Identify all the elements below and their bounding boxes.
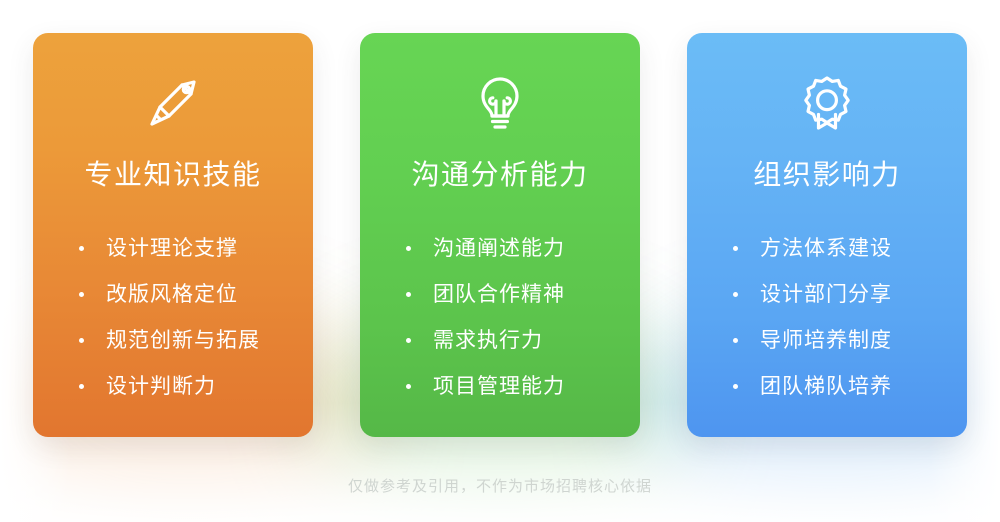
bullet-dot-icon bbox=[733, 292, 738, 297]
card-organizational-influence[interactable]: 组织影响力 方法体系建设 设计部门分享 导师培养制度 团队梯队培养 bbox=[687, 33, 967, 437]
list-item-label: 导师培养制度 bbox=[760, 330, 892, 351]
card-title: 组织影响力 bbox=[753, 161, 901, 189]
card-item-list: 沟通阐述能力 团队合作精神 需求执行力 项目管理能力 bbox=[360, 225, 640, 409]
bullet-dot-icon bbox=[79, 384, 84, 389]
list-item[interactable]: 设计理论支撑 bbox=[79, 225, 313, 271]
bullet-dot-icon bbox=[733, 338, 738, 343]
list-item[interactable]: 设计判断力 bbox=[79, 363, 313, 409]
bullet-dot-icon bbox=[406, 246, 411, 251]
bullet-dot-icon bbox=[79, 292, 84, 297]
bullet-dot-icon bbox=[406, 384, 411, 389]
card-title: 沟通分析能力 bbox=[411, 161, 588, 189]
list-item-label: 设计理论支撑 bbox=[106, 238, 238, 259]
list-item-label: 需求执行力 bbox=[433, 330, 543, 351]
list-item[interactable]: 方法体系建设 bbox=[733, 225, 967, 271]
bullet-dot-icon bbox=[79, 246, 84, 251]
list-item[interactable]: 团队梯队培养 bbox=[733, 363, 967, 409]
list-item[interactable]: 改版风格定位 bbox=[79, 271, 313, 317]
list-item-label: 设计判断力 bbox=[106, 376, 216, 397]
list-item[interactable]: 沟通阐述能力 bbox=[406, 225, 640, 271]
bullet-dot-icon bbox=[406, 292, 411, 297]
bullet-dot-icon bbox=[406, 338, 411, 343]
list-item[interactable]: 需求执行力 bbox=[406, 317, 640, 363]
list-item-label: 改版风格定位 bbox=[106, 284, 238, 305]
list-item[interactable]: 规范创新与拓展 bbox=[79, 317, 313, 363]
list-item-label: 规范创新与拓展 bbox=[106, 330, 260, 351]
footer-disclaimer: 仅做参考及引用，不作为市场招聘核心依据 bbox=[0, 475, 1000, 496]
list-item-label: 方法体系建设 bbox=[760, 238, 892, 259]
card-item-list: 方法体系建设 设计部门分享 导师培养制度 团队梯队培养 bbox=[687, 225, 967, 409]
list-item-label: 团队合作精神 bbox=[433, 284, 565, 305]
bullet-dot-icon bbox=[733, 246, 738, 251]
card-communication-analysis[interactable]: 沟通分析能力 沟通阐述能力 团队合作精神 需求执行力 项目管理能力 bbox=[360, 33, 640, 437]
lightbulb-icon bbox=[468, 71, 532, 135]
pen-nib-icon bbox=[141, 71, 205, 135]
list-item-label: 团队梯队培养 bbox=[760, 376, 892, 397]
list-item-label: 设计部门分享 bbox=[760, 284, 892, 305]
bullet-dot-icon bbox=[733, 384, 738, 389]
list-item[interactable]: 项目管理能力 bbox=[406, 363, 640, 409]
bullet-dot-icon bbox=[79, 338, 84, 343]
list-item-label: 沟通阐述能力 bbox=[433, 238, 565, 259]
list-item[interactable]: 导师培养制度 bbox=[733, 317, 967, 363]
list-item[interactable]: 设计部门分享 bbox=[733, 271, 967, 317]
card-title: 专业知识技能 bbox=[84, 161, 261, 189]
infographic-stage: 专业知识技能 设计理论支撑 改版风格定位 规范创新与拓展 设计判断力 bbox=[0, 0, 1000, 522]
award-medal-icon bbox=[795, 71, 859, 135]
card-group: 专业知识技能 设计理论支撑 改版风格定位 规范创新与拓展 设计判断力 bbox=[33, 33, 967, 437]
card-item-list: 设计理论支撑 改版风格定位 规范创新与拓展 设计判断力 bbox=[33, 225, 313, 409]
card-professional-knowledge[interactable]: 专业知识技能 设计理论支撑 改版风格定位 规范创新与拓展 设计判断力 bbox=[33, 33, 313, 437]
list-item[interactable]: 团队合作精神 bbox=[406, 271, 640, 317]
list-item-label: 项目管理能力 bbox=[433, 376, 565, 397]
